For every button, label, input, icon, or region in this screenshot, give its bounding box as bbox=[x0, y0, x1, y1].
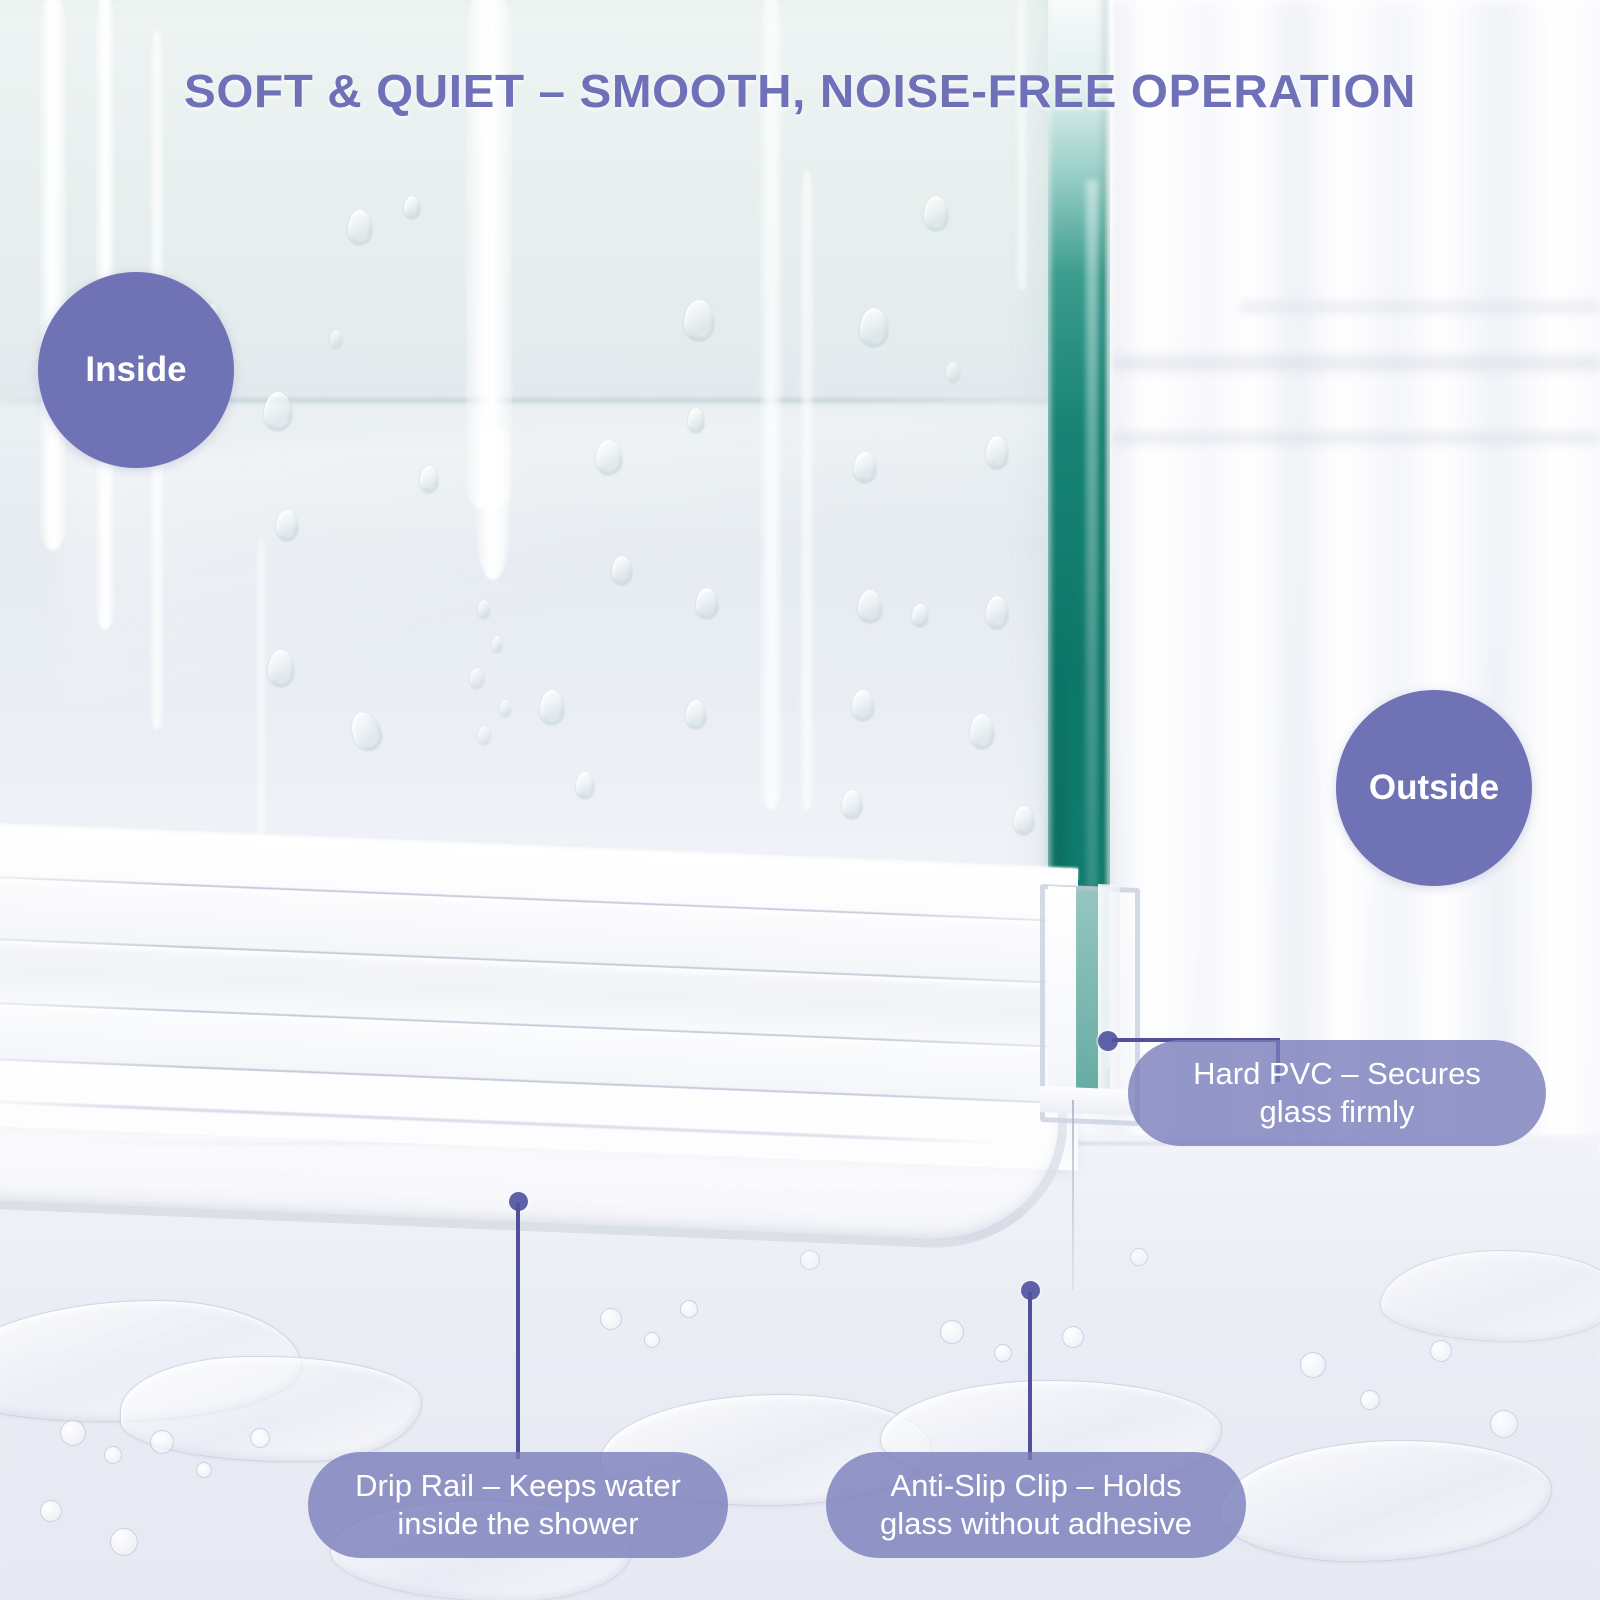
badge-outside-label: Outside bbox=[1369, 768, 1499, 808]
water-streak bbox=[760, 0, 782, 810]
callout-drip-rail-line1: Drip Rail – Keeps water bbox=[355, 1468, 681, 1503]
clip-guide-line bbox=[1072, 1100, 1074, 1290]
water-streak bbox=[800, 170, 814, 810]
water-streak bbox=[476, 430, 510, 580]
water-bubble bbox=[800, 1250, 820, 1270]
callout-leader-drip-rail bbox=[516, 1203, 520, 1459]
water-droplet bbox=[264, 392, 292, 430]
callout-hard-pvc: Hard PVC – Secures glass firmly bbox=[1128, 1040, 1546, 1146]
callout-hard-pvc-line1: Hard PVC – Secures bbox=[1193, 1056, 1481, 1091]
water-bubble bbox=[150, 1430, 174, 1454]
clip-inner-face bbox=[1048, 886, 1076, 1111]
water-droplet bbox=[478, 726, 491, 744]
infographic-canvas: SOFT & QUIET – SMOOTH, NOISE-FREE OPERAT… bbox=[0, 0, 1600, 1600]
water-droplet bbox=[404, 196, 420, 218]
badge-inside-label: Inside bbox=[85, 350, 186, 390]
water-droplet bbox=[596, 440, 622, 474]
water-droplet bbox=[500, 700, 511, 716]
water-droplet bbox=[686, 700, 706, 728]
clip-outer-face bbox=[1098, 884, 1120, 1113]
water-bubble bbox=[60, 1420, 86, 1446]
background-shelf bbox=[1090, 430, 1600, 446]
water-droplet bbox=[492, 636, 502, 652]
glass-diagonal-highlight bbox=[60, 404, 1060, 716]
clip-base bbox=[1040, 1086, 1132, 1116]
water-bubble bbox=[1430, 1340, 1452, 1362]
water-bubble bbox=[600, 1308, 622, 1330]
water-streak bbox=[256, 540, 266, 840]
water-bubble bbox=[1360, 1390, 1380, 1410]
water-bubble bbox=[1062, 1326, 1084, 1348]
water-droplet bbox=[540, 690, 564, 724]
water-droplet bbox=[852, 690, 874, 720]
water-bubble bbox=[196, 1462, 212, 1478]
water-bubble bbox=[1490, 1410, 1518, 1438]
water-bubble bbox=[994, 1344, 1012, 1362]
water-bubble bbox=[104, 1446, 122, 1464]
callout-anti-slip-clip: Anti-Slip Clip – Holds glass without adh… bbox=[826, 1452, 1246, 1558]
water-droplet bbox=[688, 408, 704, 432]
page-title: SOFT & QUIET – SMOOTH, NOISE-FREE OPERAT… bbox=[0, 64, 1600, 118]
water-bubble bbox=[940, 1320, 964, 1344]
water-droplet bbox=[348, 210, 372, 244]
water-droplet bbox=[276, 510, 298, 540]
background-shelf bbox=[1060, 352, 1600, 374]
water-droplet bbox=[684, 300, 714, 340]
water-droplet bbox=[576, 772, 594, 798]
water-droplet bbox=[912, 604, 928, 626]
water-streak bbox=[1016, 0, 1028, 290]
water-bubble bbox=[1130, 1248, 1148, 1266]
water-droplet bbox=[986, 436, 1008, 468]
water-droplet bbox=[924, 196, 948, 230]
callout-leader-anti-slip-clip bbox=[1028, 1292, 1032, 1460]
callout-hard-pvc-line2: glass firmly bbox=[1259, 1094, 1414, 1129]
water-droplet bbox=[420, 466, 438, 492]
water-bubble bbox=[40, 1500, 62, 1522]
water-droplet bbox=[696, 588, 718, 618]
water-droplet bbox=[478, 600, 490, 618]
water-droplet bbox=[268, 650, 294, 686]
badge-outside: Outside bbox=[1336, 690, 1532, 886]
background-shelf bbox=[1240, 300, 1600, 314]
callout-anti-slip-line1: Anti-Slip Clip – Holds bbox=[890, 1468, 1181, 1503]
water-droplet bbox=[858, 590, 882, 622]
water-droplet bbox=[1014, 806, 1034, 834]
water-bubble bbox=[1300, 1352, 1326, 1378]
badge-inside: Inside bbox=[38, 272, 234, 468]
water-bubble bbox=[250, 1428, 270, 1448]
callout-drip-rail-line2: inside the shower bbox=[397, 1506, 638, 1541]
water-droplet bbox=[986, 596, 1008, 628]
water-bubble bbox=[110, 1528, 138, 1556]
water-droplet bbox=[946, 362, 960, 382]
water-droplet bbox=[330, 330, 342, 348]
water-droplet bbox=[970, 714, 994, 748]
water-droplet bbox=[470, 668, 484, 688]
water-droplet bbox=[612, 556, 632, 584]
water-droplet bbox=[860, 308, 888, 346]
callout-drip-rail: Drip Rail – Keeps water inside the showe… bbox=[308, 1452, 728, 1558]
water-bubble bbox=[680, 1300, 698, 1318]
water-droplet bbox=[854, 452, 876, 482]
water-bubble bbox=[644, 1332, 660, 1348]
water-droplet bbox=[842, 790, 862, 818]
callout-anti-slip-line2: glass without adhesive bbox=[880, 1506, 1192, 1541]
